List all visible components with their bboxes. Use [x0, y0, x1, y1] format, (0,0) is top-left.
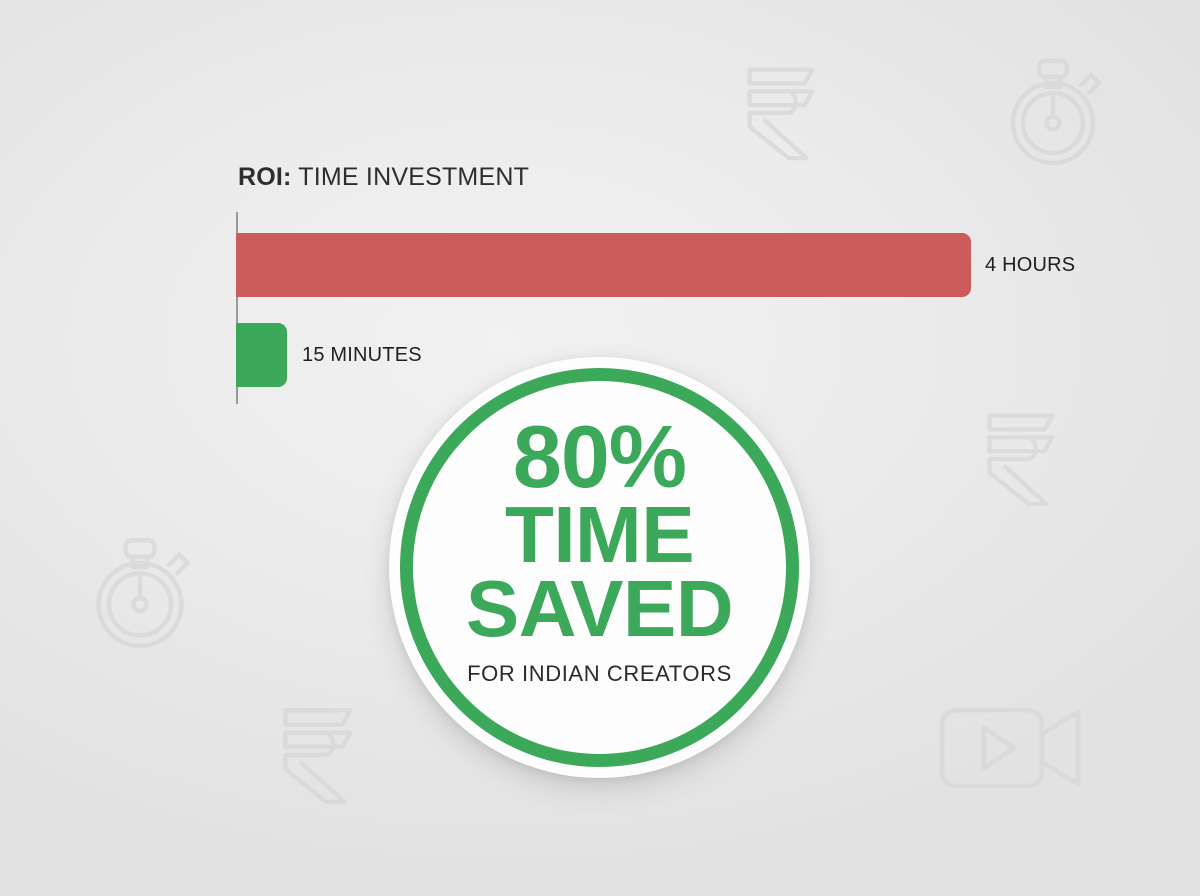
- play-triangle-icon: [984, 728, 1014, 768]
- badge-line-saved: SAVED: [389, 572, 810, 646]
- rupee-icon: [268, 696, 368, 810]
- rupee-icon: [733, 56, 829, 166]
- badge-percent: 80%: [389, 417, 810, 498]
- video-camera-icon: [936, 694, 1086, 798]
- stopwatch-icon: [1001, 55, 1105, 167]
- chart-title: ROI: TIME INVESTMENT: [238, 163, 529, 192]
- bar-value-label: 15 MINUTES: [302, 323, 422, 387]
- bar-ai-auto-cut: [236, 323, 287, 387]
- chart-title-prefix: ROI:: [238, 163, 292, 191]
- badge-line-time: TIME: [389, 498, 810, 572]
- badge-subtitle: FOR INDIAN CREATORS: [389, 661, 810, 687]
- rupee-icon: [973, 402, 1069, 512]
- bar-manual-rough-cut: [236, 233, 971, 297]
- badge-content: 80% TIME SAVED FOR INDIAN CREATORS: [389, 417, 810, 687]
- chart-title-rest: TIME INVESTMENT: [292, 163, 529, 191]
- time-saved-badge: 80% TIME SAVED FOR INDIAN CREATORS: [389, 357, 810, 778]
- bar-value-label: 4 HOURS: [985, 233, 1075, 297]
- stopwatch-icon: [86, 534, 194, 650]
- infographic-canvas: ROI: TIME INVESTMENT MANUALROUGH CUT 4 H…: [0, 0, 1200, 896]
